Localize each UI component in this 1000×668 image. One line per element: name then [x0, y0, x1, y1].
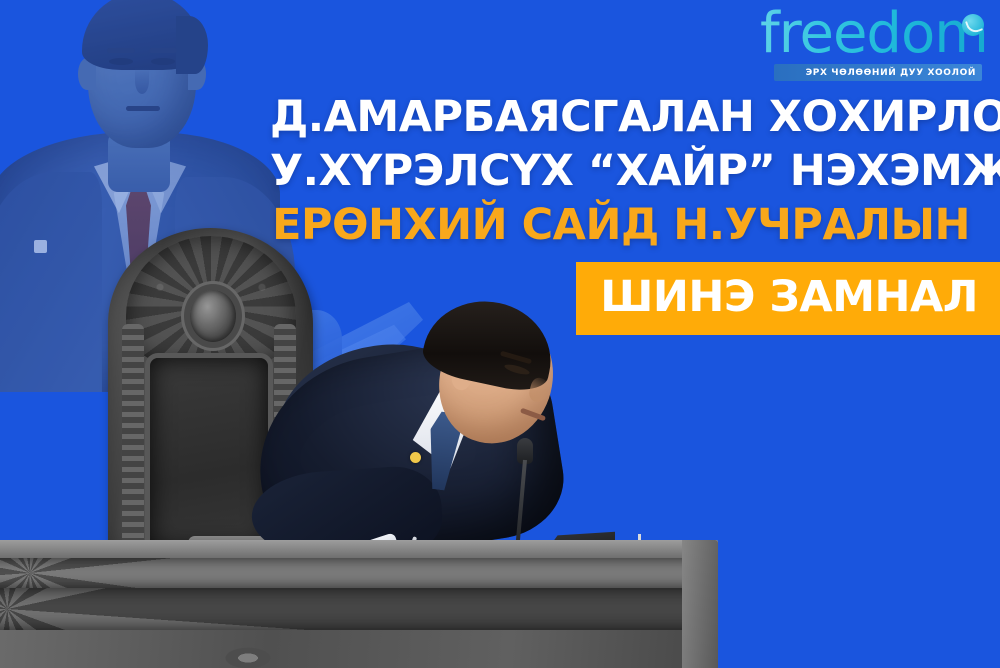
logo-wordmark: freedom — [760, 6, 988, 62]
podium-countertop — [0, 540, 718, 558]
man-lapel-pin — [410, 452, 421, 463]
podium-upper-frieze — [0, 558, 718, 588]
ghost-portrait-eye-left — [109, 58, 133, 65]
logo-tagline: ЭРХ ЧӨЛӨӨНИЙ ДУУ ХООЛОЙ — [774, 64, 982, 81]
ghost-portrait-mouth — [126, 106, 160, 111]
podium-lower-frieze — [0, 588, 718, 630]
ghost-portrait-hair — [82, 0, 202, 70]
chair-stile-left — [122, 324, 144, 554]
ghost-portrait-brow-right — [149, 48, 177, 53]
ghost-portrait-shoulder-left — [0, 172, 102, 392]
headline-line-3: ЕРӨНХИЙ САЙД Н.УЧРАЛЫН — [270, 204, 970, 248]
ghost-portrait-brow-left — [107, 48, 135, 53]
headline-line-1: Д.АМАРБАЯСГАЛАН ХОХИРЛОО, — [270, 96, 970, 140]
poster-canvas: freedom ЭРХ ЧӨЛӨӨНИЙ ДУУ ХООЛОЙ Д.АМАРБА… — [0, 0, 1000, 668]
freedom-logo[interactable]: freedom ЭРХ ЧӨЛӨӨНИЙ ДУУ ХООЛОЙ — [754, 10, 982, 82]
headline-highlight-banner: ШИНЭ ЗАМНАЛ — [576, 262, 1000, 335]
ghost-portrait-lapel-pin — [34, 240, 47, 253]
ghost-portrait-eye-right — [151, 58, 175, 65]
headline-line-2: У.ХҮРЭЛСҮХ “ХАЙР” НЭХЭМЖЛЭХ — [270, 150, 970, 194]
microphone-gooseneck — [516, 460, 527, 542]
clock-badge-icon — [962, 14, 984, 36]
chair-medallion — [190, 290, 236, 342]
headline-block: Д.АМАРБАЯСГАЛАН ХОХИРЛОО, У.ХҮРЭЛСҮХ “ХА… — [270, 96, 970, 335]
chair-upholstered-panel — [150, 358, 268, 548]
parliamentary-podium — [0, 540, 718, 668]
podium-front-panel — [0, 630, 718, 668]
ghost-portrait-nose — [135, 68, 149, 94]
podium-end-cap — [682, 540, 718, 668]
